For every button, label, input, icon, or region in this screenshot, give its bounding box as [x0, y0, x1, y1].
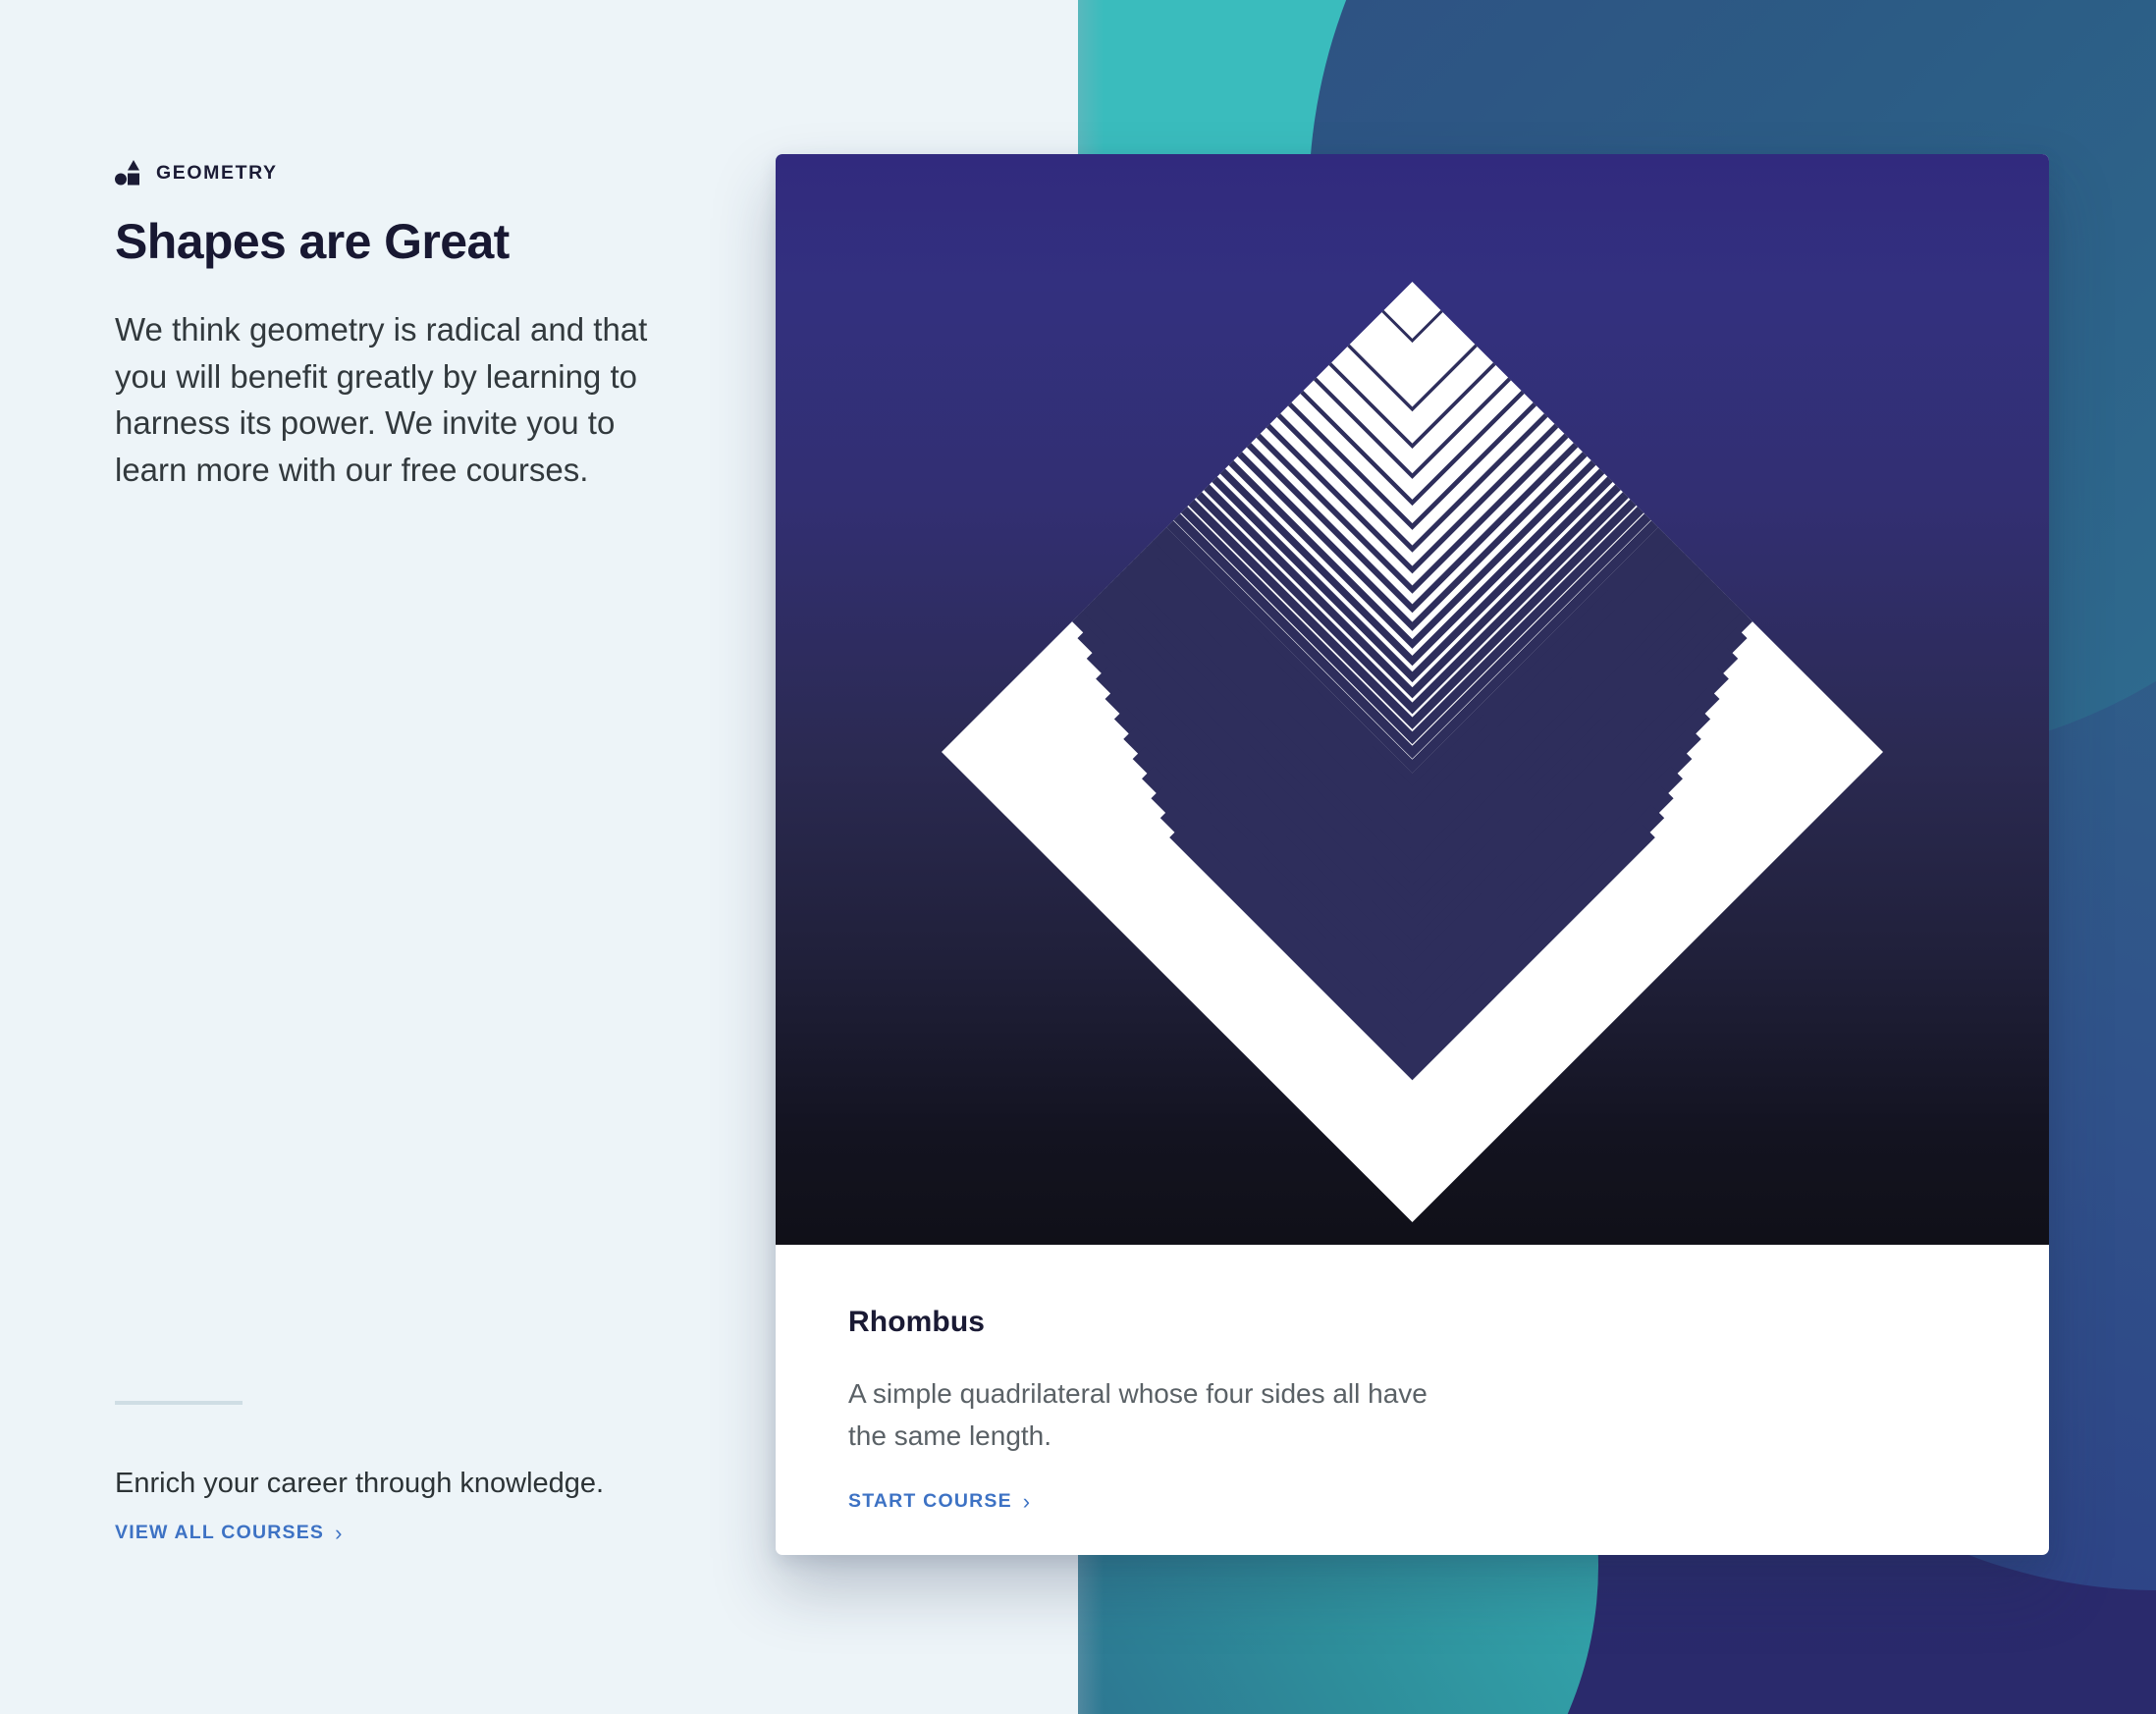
section-divider [115, 1401, 243, 1405]
start-course-label: START COURSE [848, 1490, 1012, 1513]
view-all-courses-label: VIEW ALL COURSES [115, 1522, 324, 1544]
page-root: GEOMETRY Shapes are Great We think geome… [0, 0, 2156, 1714]
chevron-right-icon: › [335, 1523, 344, 1544]
course-card[interactable]: Rhombus A simple quadrilateral whose fou… [776, 154, 2049, 1555]
geometry-shapes-icon [115, 160, 139, 186]
hero-body-text: We think geometry is radical and that yo… [115, 306, 665, 493]
left-content: GEOMETRY Shapes are Great We think geome… [115, 0, 724, 1714]
view-all-courses-link[interactable]: VIEW ALL COURSES › [115, 1522, 344, 1544]
course-description: A simple quadrilateral whose four sides … [848, 1372, 1437, 1457]
course-title: Rhombus [848, 1306, 1976, 1339]
footer-tagline: Enrich your career through knowledge. [115, 1468, 604, 1500]
brand-label: GEOMETRY [156, 162, 278, 185]
chevron-right-icon: › [1023, 1491, 1032, 1513]
rhombus-line-art-icon [776, 154, 2049, 1245]
course-card-media [776, 154, 2049, 1245]
course-card-body: Rhombus A simple quadrilateral whose fou… [776, 1245, 2049, 1513]
start-course-link[interactable]: START COURSE › [848, 1490, 1031, 1513]
brand: GEOMETRY [115, 160, 278, 186]
page-title: Shapes are Great [115, 213, 510, 270]
